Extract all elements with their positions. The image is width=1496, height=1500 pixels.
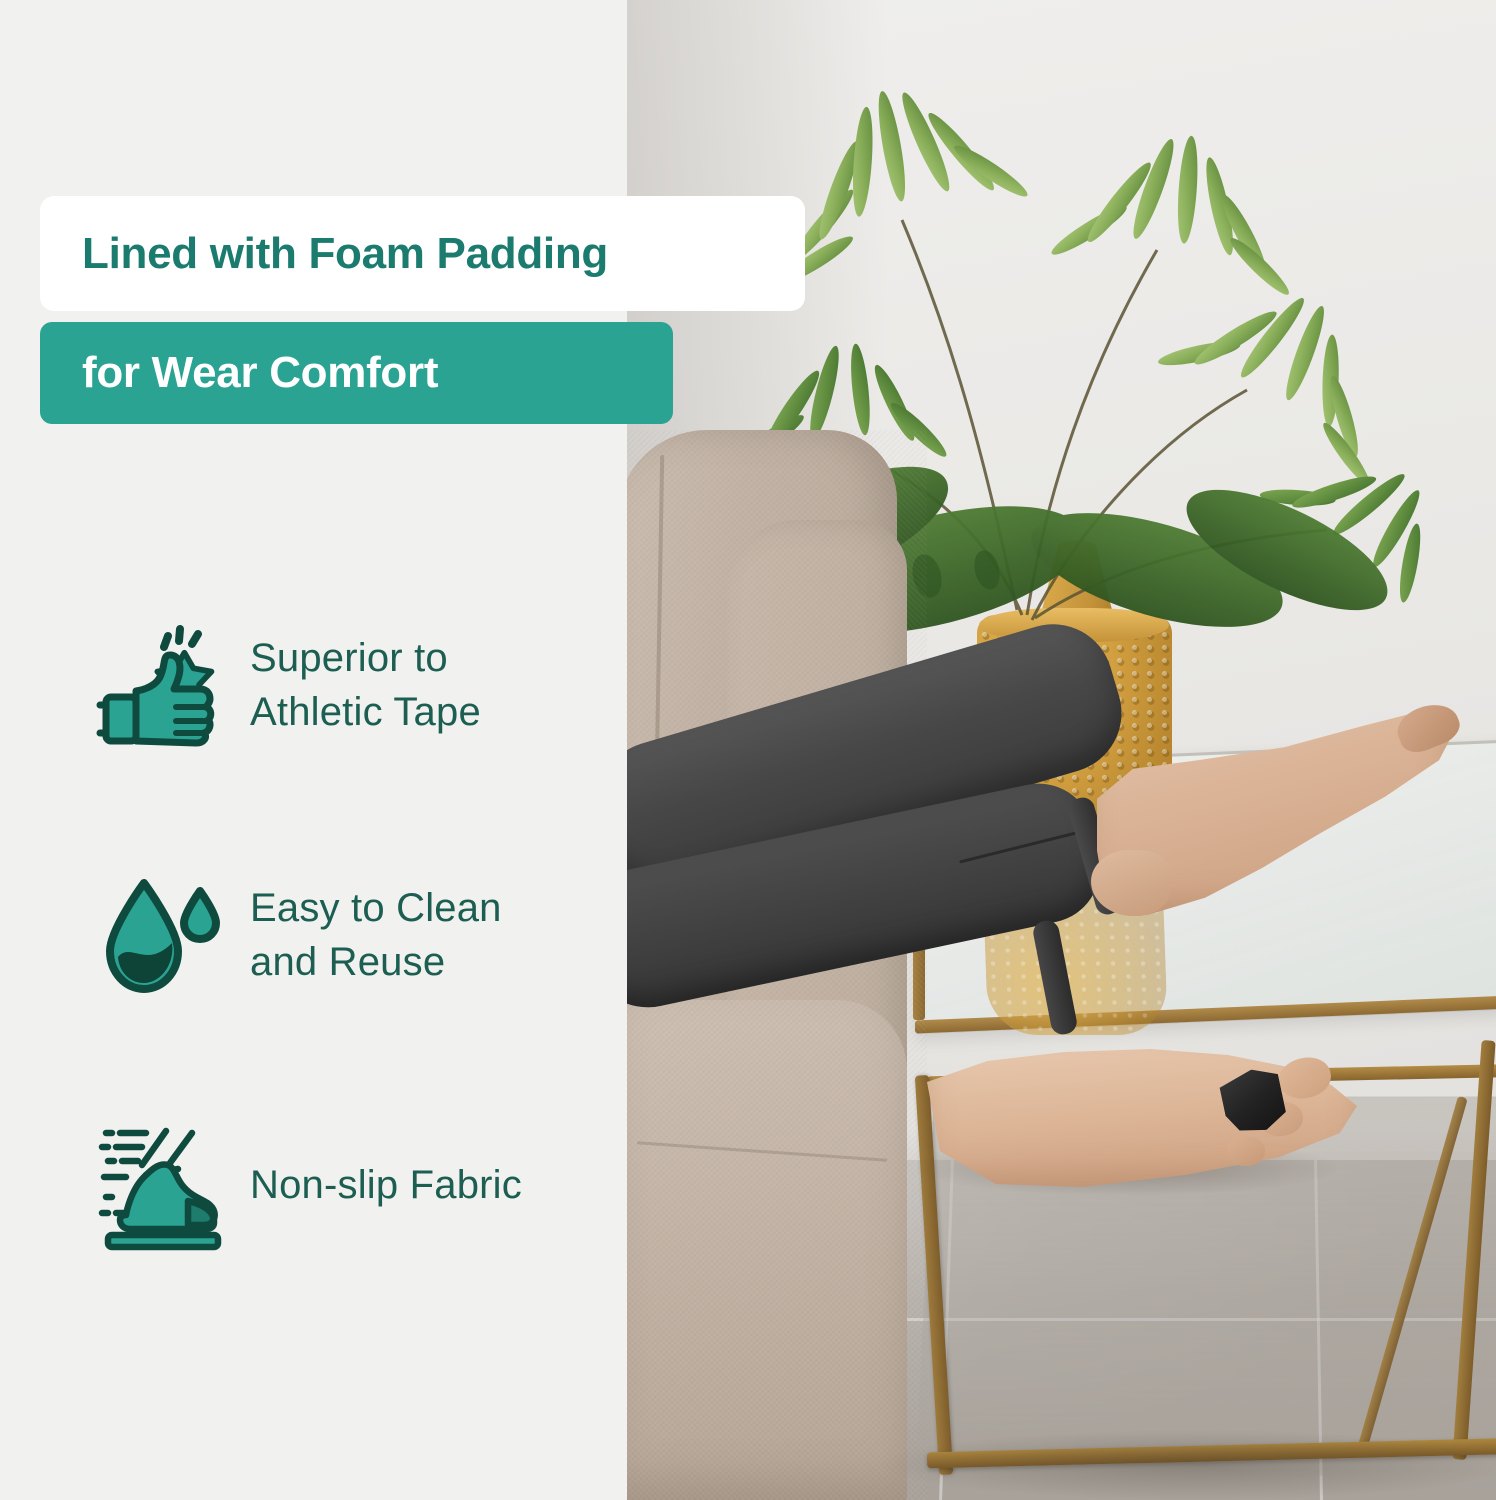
- feature-item-superior-to-athletic-tape: Superior to Athletic Tape: [0, 560, 640, 810]
- thumbs-up-star-icon: [96, 619, 228, 751]
- feature-list: Superior to Athletic Tape Easy to Clean …: [0, 560, 640, 1310]
- feature-item-non-slip-fabric: Non-slip Fabric: [0, 1060, 640, 1310]
- foot-toe: [1227, 1136, 1265, 1166]
- water-droplet-icon: [96, 869, 228, 1001]
- product-feature-panel: Lined with Foam Padding for Wear Comfort: [0, 0, 1496, 1500]
- resting-foot: [927, 1040, 1357, 1190]
- feature-label-text: Easy to Clean and Reuse: [250, 886, 502, 984]
- feature-label: Superior to Athletic Tape: [250, 631, 580, 739]
- feature-label-text: Superior to Athletic Tape: [250, 636, 481, 734]
- running-shoe-motion-icon: [96, 1119, 228, 1251]
- feature-label-text: Non-slip Fabric: [250, 1163, 522, 1207]
- feature-label: Non-slip Fabric: [250, 1158, 522, 1212]
- table-shadow: [877, 1430, 1496, 1500]
- headline-band-primary: Lined with Foam Padding: [40, 196, 805, 311]
- headline-band-secondary: for Wear Comfort: [40, 322, 673, 424]
- feature-label: Easy to Clean and Reuse: [250, 881, 580, 989]
- foot-heel: [1091, 850, 1171, 916]
- headline-line-2: for Wear Comfort: [82, 348, 438, 398]
- left-text-panel: Lined with Foam Padding for Wear Comfort: [0, 0, 640, 1500]
- raised-foot: [1097, 700, 1457, 915]
- feature-item-easy-to-clean-and-reuse: Easy to Clean and Reuse: [0, 810, 640, 1060]
- headline-line-1: Lined with Foam Padding: [82, 229, 608, 279]
